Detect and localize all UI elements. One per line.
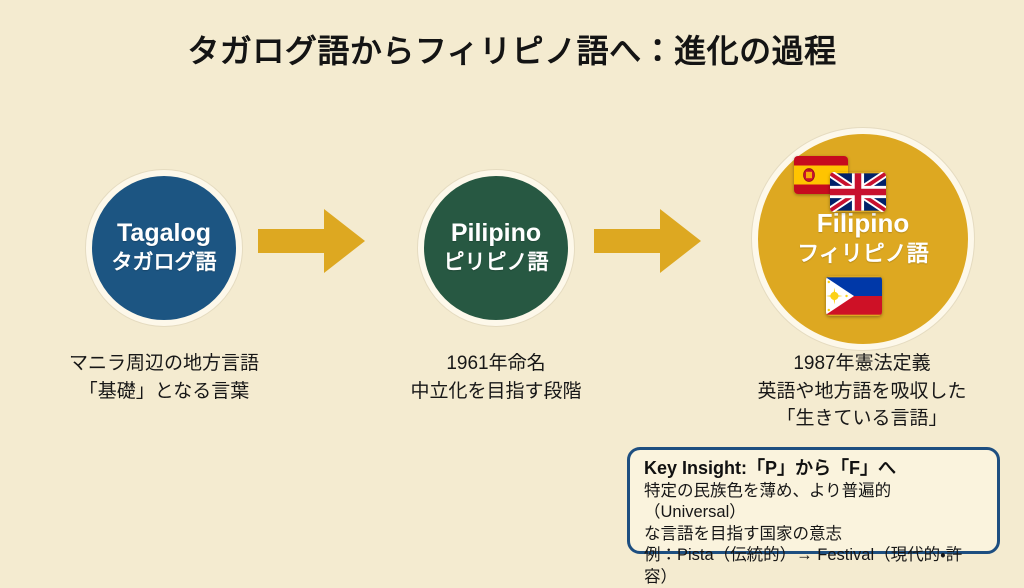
stage-caption-pilipino: 1961年命名 中立化を目指す段階: [346, 350, 646, 405]
stage-label-filipino: Filipino フィリピノ語: [797, 210, 929, 268]
stage-caption-filipino: 1987年憲法定義 英語や地方語を吸収した 「生きている言語」: [712, 350, 1012, 433]
key-insight-box: Key Insight:「P」から「F」へ 特定の民族色を薄め、より普遍的（Un…: [627, 447, 1000, 554]
stage-name-ja-tagalog: タガログ語: [112, 250, 217, 276]
stage-name-en-tagalog: Tagalog: [112, 220, 217, 246]
slide-canvas: タガログ語からフィリピノ語へ：進化の過程 Tagalog タガログ語 Pilip…: [0, 0, 1024, 567]
arrow-right-icon: [258, 205, 365, 282]
philippines-flag-icon: [826, 276, 882, 316]
key-insight-heading: Key Insight:「P」から「F」へ: [644, 457, 985, 480]
stage-label-tagalog: Tagalog タガログ語: [112, 220, 217, 276]
stage-caption-tagalog: マニラ周辺の地方言語 「基礎」となる言葉: [14, 350, 314, 405]
stage-name-ja-filipino: フィリピノ語: [797, 240, 929, 268]
arrow-right-icon: [594, 205, 701, 282]
stage-name-en-pilipino: Pilipino: [444, 220, 549, 246]
stage-circle-tagalog[interactable]: Tagalog タガログ語: [86, 170, 242, 326]
stage-name-ja-pilipino: ピリピノ語: [444, 250, 549, 276]
stage-name-en-filipino: Filipino: [797, 210, 929, 237]
uk-flag-icon: [830, 172, 886, 212]
key-insight-body: 特定の民族色を薄め、より普遍的（Universal） な言語を目指す国家の意志 …: [644, 481, 985, 588]
stage-circle-pilipino[interactable]: Pilipino ピリピノ語: [418, 170, 574, 326]
page-title: タガログ語からフィリピノ語へ：進化の過程: [0, 26, 1024, 72]
stage-circle-filipino[interactable]: Filipino フィリピノ語: [752, 128, 974, 350]
stage-label-pilipino: Pilipino ピリピノ語: [444, 220, 549, 276]
